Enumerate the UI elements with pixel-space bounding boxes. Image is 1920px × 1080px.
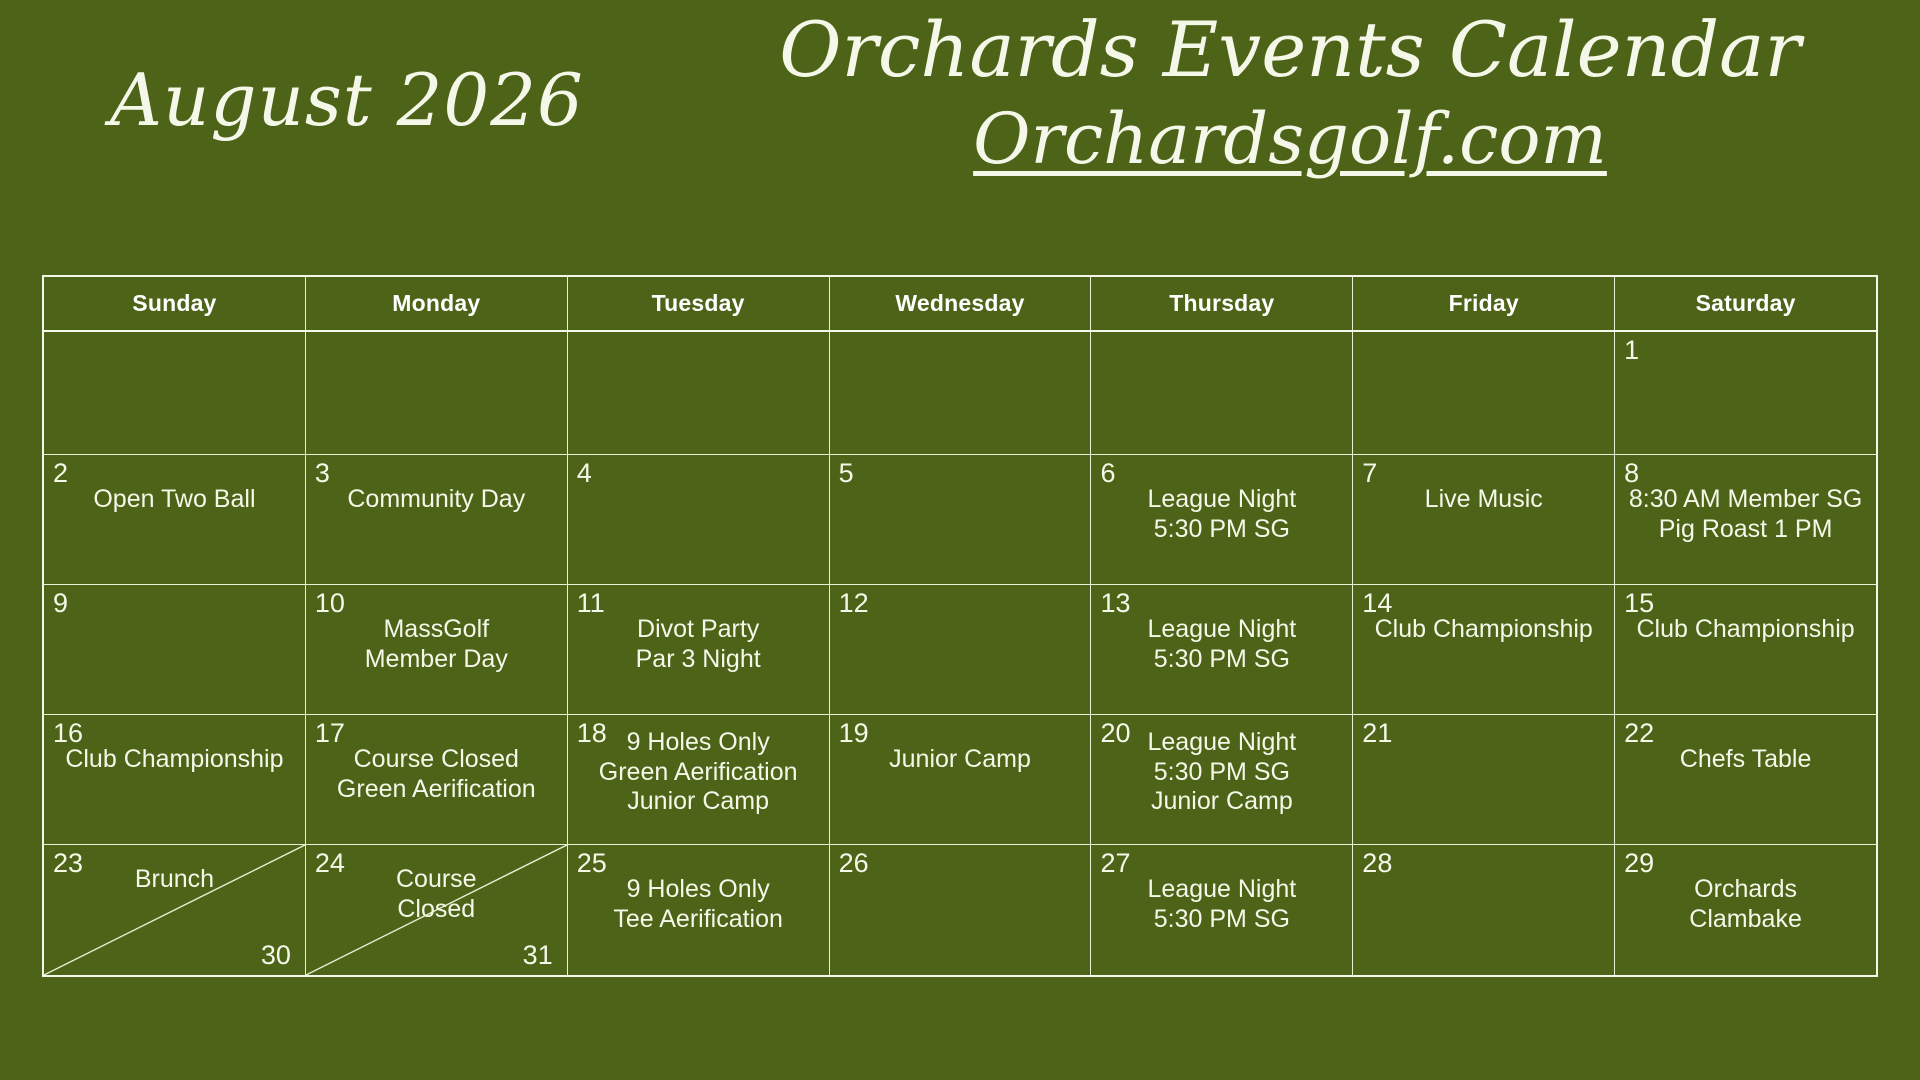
day-number: 10 <box>315 589 345 619</box>
calendar-day-cell[interactable]: 6League Night5:30 PM SG <box>1091 455 1353 585</box>
day-number: 5 <box>839 459 854 489</box>
day-event-line: Green Aerification <box>310 775 563 805</box>
calendar-day-cell[interactable]: 20League Night5:30 PM SGJunior Camp <box>1091 715 1353 845</box>
calendar-title: Orchards Events Calendar <box>760 6 1820 93</box>
day-events: Live Music <box>1353 485 1614 515</box>
weekday-label: Friday <box>1449 290 1519 317</box>
day-events: League Night5:30 PM SGJunior Camp <box>1091 728 1352 817</box>
calendar-day-cell[interactable]: 2431CourseClosed <box>306 845 568 975</box>
day-number-secondary: 31 <box>523 941 553 971</box>
day-number: 26 <box>839 849 869 879</box>
calendar-day-cell[interactable]: 11Divot PartyPar 3 Night <box>568 585 830 715</box>
day-event-line: Club Championship <box>1357 615 1610 645</box>
weekday-header-cell: Wednesday <box>830 277 1092 332</box>
day-event-line: Green Aerification <box>572 758 825 788</box>
day-event-line: Divot Party <box>572 615 825 645</box>
calendar-weeks: 12Open Two Ball3Community Day456League N… <box>44 332 1876 975</box>
day-event-line: 8:30 AM Member SG <box>1619 485 1872 515</box>
weekday-label: Tuesday <box>652 290 745 317</box>
calendar-day-cell[interactable]: 9 <box>44 585 306 715</box>
weekday-label: Thursday <box>1169 290 1274 317</box>
calendar-week-row: 16Club Championship17Course ClosedGreen … <box>44 715 1876 845</box>
calendar-day-cell[interactable]: 19Junior Camp <box>830 715 1092 845</box>
website-url-link[interactable]: Orchardsgolf.com <box>973 99 1607 180</box>
day-event-line: 5:30 PM SG <box>1095 515 1348 545</box>
calendar-day-cell[interactable]: 14Club Championship <box>1353 585 1615 715</box>
title-block: Orchards Events Calendar Orchardsgolf.co… <box>760 6 1820 180</box>
day-event-line: Junior Camp <box>572 787 825 817</box>
calendar-day-cell[interactable]: 21 <box>1353 715 1615 845</box>
calendar-day-cell[interactable] <box>306 332 568 455</box>
weekday-header-cell: Thursday <box>1091 277 1353 332</box>
calendar-day-cell[interactable]: 12 <box>830 585 1092 715</box>
day-event-line: 9 Holes Only <box>572 875 825 905</box>
day-events: Club Championship <box>1615 615 1876 645</box>
day-event-line: Orchards <box>1619 875 1872 905</box>
day-number: 18 <box>577 719 607 749</box>
day-number: 14 <box>1362 589 1392 619</box>
day-events: 9 Holes OnlyTee Aerification <box>568 875 829 934</box>
weekday-header-row: SundayMondayTuesdayWednesdayThursdayFrid… <box>44 277 1876 332</box>
calendar-day-cell[interactable] <box>830 332 1092 455</box>
day-events: League Night5:30 PM SG <box>1091 615 1352 674</box>
calendar-day-cell[interactable]: 88:30 AM Member SGPig Roast 1 PM <box>1615 455 1876 585</box>
day-number: 2 <box>53 459 68 489</box>
day-number: 19 <box>839 719 869 749</box>
day-event-line: 5:30 PM SG <box>1095 905 1348 935</box>
weekday-label: Saturday <box>1696 290 1796 317</box>
day-number: 3 <box>315 459 330 489</box>
day-events: 8:30 AM Member SGPig Roast 1 PM <box>1615 485 1876 544</box>
weekday-header-cell: Sunday <box>44 277 306 332</box>
calendar-page: August 2026 Orchards Events Calendar Orc… <box>0 0 1920 1080</box>
day-event-line: Member Day <box>310 645 563 675</box>
calendar-day-cell[interactable]: 27League Night5:30 PM SG <box>1091 845 1353 975</box>
day-number: 13 <box>1100 589 1130 619</box>
day-number: 29 <box>1624 849 1654 879</box>
calendar-day-cell[interactable]: 7Live Music <box>1353 455 1615 585</box>
day-event-line: Club Championship <box>48 745 301 775</box>
day-events: Chefs Table <box>1615 745 1876 775</box>
calendar-day-cell[interactable]: 2330Brunch <box>44 845 306 975</box>
day-event-line: Course <box>310 865 563 895</box>
month-title: August 2026 <box>110 58 584 142</box>
calendar-header: August 2026 Orchards Events Calendar Orc… <box>0 0 1920 270</box>
weekday-header-cell: Tuesday <box>568 277 830 332</box>
day-events: Divot PartyPar 3 Night <box>568 615 829 674</box>
day-events: League Night5:30 PM SG <box>1091 875 1352 934</box>
calendar-day-cell[interactable]: 16Club Championship <box>44 715 306 845</box>
calendar-day-cell[interactable] <box>1353 332 1615 455</box>
day-event-line: Chefs Table <box>1619 745 1872 775</box>
calendar-day-cell[interactable]: 5 <box>830 455 1092 585</box>
day-event-line: Course Closed <box>310 745 563 775</box>
calendar-day-cell[interactable]: 28 <box>1353 845 1615 975</box>
day-number: 25 <box>577 849 607 879</box>
day-event-line: Junior Camp <box>834 745 1087 775</box>
day-event-line: Clambake <box>1619 905 1872 935</box>
day-number: 7 <box>1362 459 1377 489</box>
day-event-line: Closed <box>310 895 563 925</box>
calendar-week-row: 2330Brunch2431CourseClosed259 Holes Only… <box>44 845 1876 975</box>
weekday-header-cell: Friday <box>1353 277 1615 332</box>
calendar-day-cell[interactable] <box>1091 332 1353 455</box>
calendar-day-cell[interactable]: 10MassGolfMember Day <box>306 585 568 715</box>
calendar-week-row: 2Open Two Ball3Community Day456League Ni… <box>44 455 1876 585</box>
day-number: 12 <box>839 589 869 619</box>
calendar-week-row: 910MassGolfMember Day11Divot PartyPar 3 … <box>44 585 1876 715</box>
calendar-day-cell[interactable]: 22Chefs Table <box>1615 715 1876 845</box>
weekday-header-cell: Saturday <box>1615 277 1876 332</box>
weekday-header-cell: Monday <box>306 277 568 332</box>
day-number-secondary: 30 <box>261 941 291 971</box>
calendar-day-cell[interactable] <box>44 332 306 455</box>
day-number: 22 <box>1624 719 1654 749</box>
day-number: 4 <box>577 459 592 489</box>
day-event-line: 9 Holes Only <box>572 728 825 758</box>
calendar-day-cell[interactable]: 26 <box>830 845 1092 975</box>
calendar-day-cell[interactable]: 189 Holes OnlyGreen AerificationJunior C… <box>568 715 830 845</box>
calendar-day-cell[interactable]: 29OrchardsClambake <box>1615 845 1876 975</box>
day-events: MassGolfMember Day <box>306 615 567 674</box>
day-event-line: Junior Camp <box>1095 787 1348 817</box>
day-number: 20 <box>1100 719 1130 749</box>
day-event-line: Club Championship <box>1619 615 1872 645</box>
calendar-day-cell[interactable]: 3Community Day <box>306 455 568 585</box>
day-events: Club Championship <box>1353 615 1614 645</box>
day-event-line: MassGolf <box>310 615 563 645</box>
day-number: 1 <box>1624 336 1639 366</box>
day-number: 11 <box>577 589 605 619</box>
weekday-label: Sunday <box>132 290 216 317</box>
calendar-day-cell[interactable]: 259 Holes OnlyTee Aerification <box>568 845 830 975</box>
day-events: League Night5:30 PM SG <box>1091 485 1352 544</box>
day-event-line: Live Music <box>1357 485 1610 515</box>
day-events: Open Two Ball <box>44 485 305 515</box>
day-events: Community Day <box>306 485 567 515</box>
day-number: 24 <box>315 849 345 879</box>
day-events: CourseClosed <box>306 865 567 924</box>
day-number: 17 <box>315 719 345 749</box>
day-number: 28 <box>1362 849 1392 879</box>
day-number: 21 <box>1362 719 1392 749</box>
day-events: OrchardsClambake <box>1615 875 1876 934</box>
day-event-line: Brunch <box>48 865 301 895</box>
day-number: 27 <box>1100 849 1130 879</box>
weekday-label: Wednesday <box>895 290 1024 317</box>
day-number: 9 <box>53 589 68 619</box>
calendar-day-cell[interactable]: 17Course ClosedGreen Aerification <box>306 715 568 845</box>
day-number: 15 <box>1624 589 1654 619</box>
calendar-day-cell[interactable]: 2Open Two Ball <box>44 455 306 585</box>
weekday-label: Monday <box>392 290 480 317</box>
calendar-day-cell[interactable] <box>568 332 830 455</box>
day-number: 6 <box>1100 459 1115 489</box>
day-events: Course ClosedGreen Aerification <box>306 745 567 804</box>
day-event-line: 5:30 PM SG <box>1095 645 1348 675</box>
day-event-line: Open Two Ball <box>48 485 301 515</box>
calendar-day-cell[interactable]: 13League Night5:30 PM SG <box>1091 585 1353 715</box>
day-events: Brunch <box>44 865 305 895</box>
day-event-line: Tee Aerification <box>572 905 825 935</box>
day-number: 23 <box>53 849 83 879</box>
day-event-line: League Night <box>1095 728 1348 758</box>
day-number: 16 <box>53 719 83 749</box>
calendar-day-cell[interactable]: 15Club Championship <box>1615 585 1876 715</box>
day-number: 8 <box>1624 459 1639 489</box>
day-event-line: Pig Roast 1 PM <box>1619 515 1872 545</box>
calendar-day-cell[interactable]: 4 <box>568 455 830 585</box>
day-event-line: Community Day <box>310 485 563 515</box>
day-events: 9 Holes OnlyGreen AerificationJunior Cam… <box>568 728 829 817</box>
day-event-line: League Night <box>1095 875 1348 905</box>
day-events: Junior Camp <box>830 745 1091 775</box>
calendar-grid: SundayMondayTuesdayWednesdayThursdayFrid… <box>42 275 1878 977</box>
day-event-line: 5:30 PM SG <box>1095 758 1348 788</box>
day-event-line: Par 3 Night <box>572 645 825 675</box>
day-event-line: League Night <box>1095 485 1348 515</box>
calendar-day-cell[interactable]: 1 <box>1615 332 1876 455</box>
calendar-week-row: 1 <box>44 332 1876 455</box>
day-event-line: League Night <box>1095 615 1348 645</box>
day-events: Club Championship <box>44 745 305 775</box>
